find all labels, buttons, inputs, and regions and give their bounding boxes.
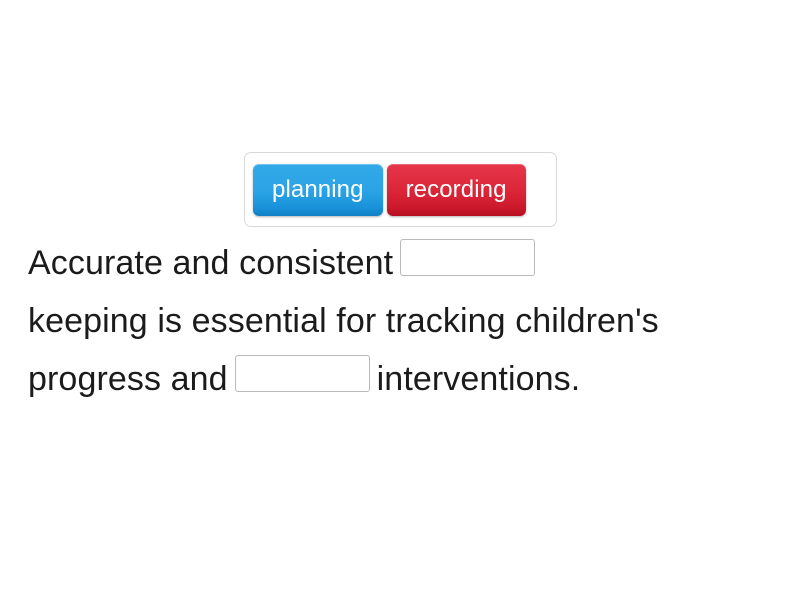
word-tile-recording[interactable]: recording xyxy=(387,164,526,216)
sentence-body: Accurate and consistentkeeping is essent… xyxy=(28,234,780,408)
blank-drop-zone-2[interactable] xyxy=(235,355,370,392)
word-tile-planning[interactable]: planning xyxy=(253,164,383,216)
sentence-segment-4: interventions. xyxy=(377,360,581,398)
sentence-segment-2: keeping is essential for tracking childr… xyxy=(28,302,659,340)
word-bank-panel: planning recording xyxy=(244,152,557,227)
exercise-canvas: planning recording Accurate and consiste… xyxy=(0,0,800,600)
sentence-segment-1: Accurate and consistent xyxy=(28,244,393,282)
sentence-segment-3: progress and xyxy=(28,360,228,398)
blank-drop-zone-1[interactable] xyxy=(400,239,535,276)
